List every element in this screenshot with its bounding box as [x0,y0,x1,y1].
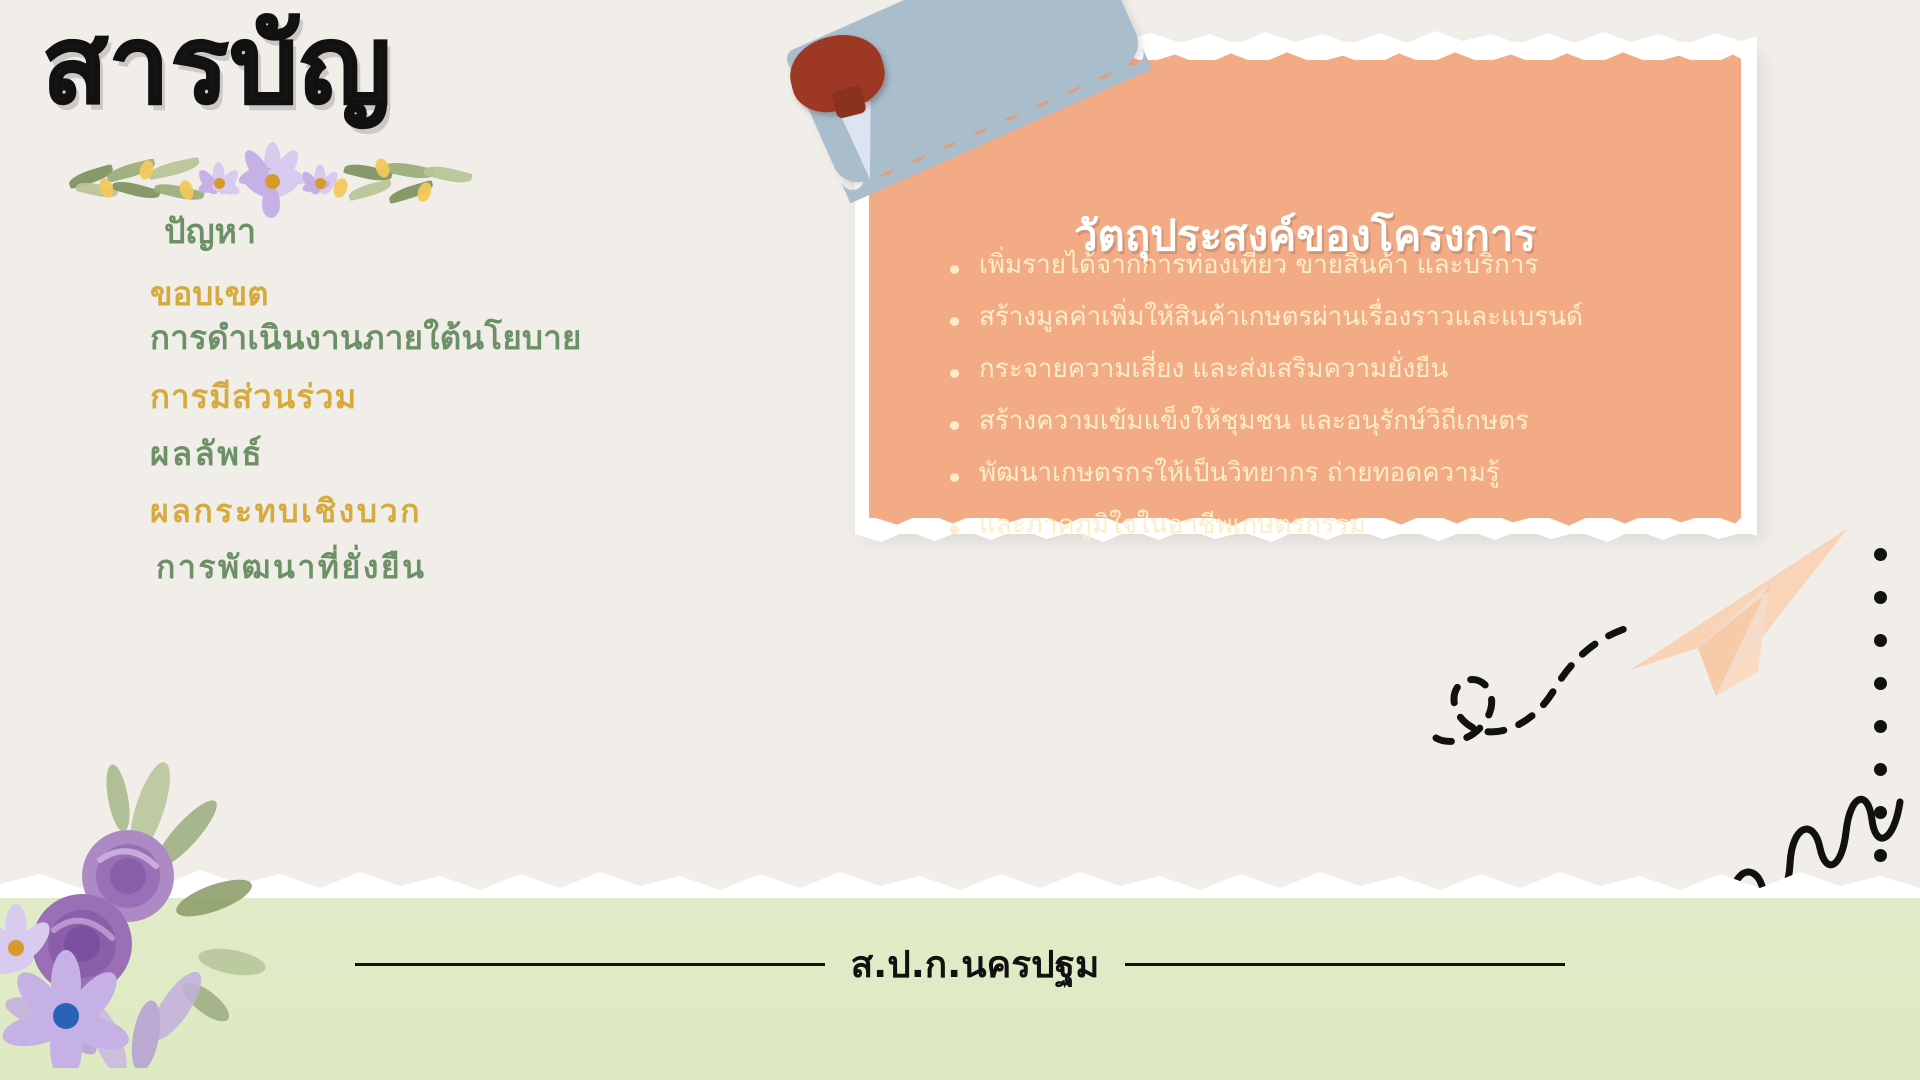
toc-item-5[interactable]: ผลกระทบเชิงบวก [150,495,790,529]
dot-icon [1874,677,1887,690]
bullet-dot-icon [950,265,959,274]
dot-icon [1874,591,1887,604]
bullet-text: สร้างมูลค่าเพิ่มให้สินค้าเกษตรผ่านเรื่อง… [979,304,1583,330]
list-item: สร้างความเข้มแข็งให้ชุมชน และอนุรักษ์วิถ… [950,408,1740,434]
toc-item-0[interactable]: ปัญหา [164,215,790,251]
toc-item-6[interactable]: การพัฒนาที่ยั่งยืน [156,551,790,585]
bullet-text: และภาคภูมิใจในอาชีพเกษตรกรรม [979,512,1366,538]
list-item: เพิ่มรายได้จากการท่องเที่ยว ขายสินค้า แล… [950,252,1740,278]
bullet-dot-icon [950,369,959,378]
bullet-dot-icon [950,525,959,534]
bullet-dot-icon [950,473,959,482]
list-item: พัฒนาเกษตรกรให้เป็นวิทยากร ถ่ายทอดความรู… [950,460,1740,486]
toc-item-3[interactable]: การมีส่วนร่วม [150,380,790,415]
bottom-left-floral-decor [0,748,330,1068]
bullet-text: สร้างความเข้มแข็งให้ชุมชน และอนุรักษ์วิถ… [979,408,1529,434]
bullet-dot-icon [950,317,959,326]
bullet-dot-icon [950,421,959,430]
floral-divider-icon [62,134,482,216]
list-item: กระจายความเสี่ยง และส่งเสริมความยั่งยืน [950,356,1740,382]
footer-rule-left [355,963,825,966]
toc-item-2[interactable]: การดำเนินงานภายใต้นโยบาย [150,321,790,356]
bullet-text: กระจายความเสี่ยง และส่งเสริมความยั่งยืน [979,356,1448,382]
bullet-text: เพิ่มรายได้จากการท่องเที่ยว ขายสินค้า แล… [979,252,1538,278]
list-item: สร้างมูลค่าเพิ่มให้สินค้าเกษตรผ่านเรื่อง… [950,304,1740,330]
dot-icon [1874,634,1887,647]
page-title: สารบัญ [42,6,562,127]
dot-icon [1874,763,1887,776]
dot-icon [1874,548,1887,561]
title-block: สารบัญ [42,6,562,226]
toc-item-4[interactable]: ผลลัพธ์ [150,437,790,472]
dashed-swirl-icon [1430,620,1660,760]
bullet-text: พัฒนาเกษตรกรให้เป็นวิทยากร ถ่ายทอดความรู… [979,460,1500,486]
footer-rule-right [1125,963,1565,966]
toc-item-1[interactable]: ขอบเขต [150,277,790,312]
dot-icon [1874,720,1887,733]
objectives-bullet-list: เพิ่มรายได้จากการท่องเที่ยว ขายสินค้า แล… [950,252,1740,564]
slide-canvas: สารบัญ [0,0,1920,1080]
table-of-contents: ปัญหา ขอบเขต การดำเนินงานภายใต้นโยบาย กา… [150,215,790,605]
footer-label: ส.ป.ก.นครปฐม [851,935,1100,994]
